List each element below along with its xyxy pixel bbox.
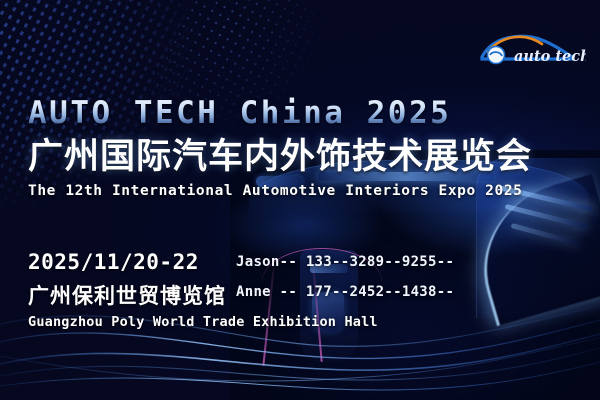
venue-chinese: 广州保利世贸博览馆 [28,280,258,310]
contact-jason: Jason-- 133--3289--9255-- [236,254,454,270]
venue-english: Guangzhou Poly World Trade Exhibition Ha… [28,314,258,330]
title-chinese: 广州国际汽车内外饰技术展览会 [28,139,588,177]
page-title: AUTO TECH China 2025 [28,96,588,130]
date-venue-group: 2025/11/20-22 广州保利世贸博览馆 Guangzhou Poly W… [28,250,258,330]
logo-text: auto tech [514,48,586,65]
auto-tech-logo[interactable]: auto tech [474,24,586,70]
event-banner: auto tech AUTO TECH China 2025 广州国际汽车内外饰… [0,0,600,400]
headline-block: AUTO TECH China 2025 广州国际汽车内外饰技术展览会 The … [28,96,588,199]
event-date: 2025/11/20-22 [28,250,258,274]
contact-anne: Anne -- 177--2452--1438-- [236,284,454,300]
contact-list: Jason-- 133--3289--9255-- Anne -- 177--2… [236,254,454,314]
subtitle-english: The 12th International Automotive Interi… [28,183,588,199]
